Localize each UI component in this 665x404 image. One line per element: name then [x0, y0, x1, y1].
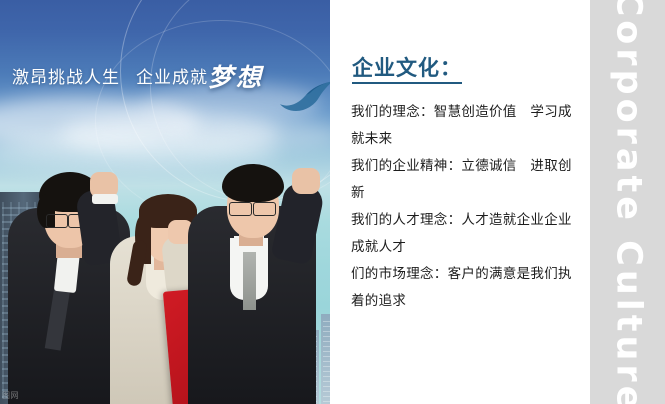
person-right-businessman [186, 144, 330, 404]
person-left-glasses-lens-left [46, 214, 68, 228]
headline-part-1: 激昂挑战人生 [12, 68, 120, 88]
section-title: 企业文化： [352, 57, 462, 84]
headline-part-2: 企业成就 [136, 68, 208, 88]
culture-paragraph-philosophy: 我们的理念：智慧创造价值 学习成就未来 [351, 99, 573, 153]
person-right-fist [292, 168, 320, 194]
vertical-title-text: Corporate Culture [610, 0, 645, 404]
culture-paragraph-market: 们的市场理念：客户的满意是我们执着的追求 [351, 261, 573, 315]
person-right-hair [222, 164, 284, 202]
image-watermark: 图网 [2, 390, 19, 401]
headline-brush-text: 梦想 [208, 63, 264, 92]
corporate-culture-content: 企业文化： 我们的理念：智慧创造价值 学习成就未来 我们的企业精神：立德诚信 进… [330, 0, 590, 404]
person-right-glasses-lens-right [253, 202, 276, 216]
vertical-title-band: Corporate Culture [590, 0, 665, 404]
person-right-glasses-lens-left [229, 202, 252, 216]
hero-headline: 激昂挑战人生企业成就梦想 [12, 58, 312, 94]
hero-banner-image: 激昂挑战人生企业成就梦想 [0, 0, 330, 404]
culture-paragraph-talent: 我们的人才理念：人才造就企业企业成就人才 [351, 207, 573, 261]
page-root: 激昂挑战人生企业成就梦想 [0, 0, 665, 404]
culture-paragraph-list: 我们的理念：智慧创造价值 学习成就未来 我们的企业精神：立德诚信 进取创新 我们… [351, 99, 573, 315]
culture-paragraph-spirit: 我们的企业精神：立德诚信 进取创新 [351, 153, 573, 207]
